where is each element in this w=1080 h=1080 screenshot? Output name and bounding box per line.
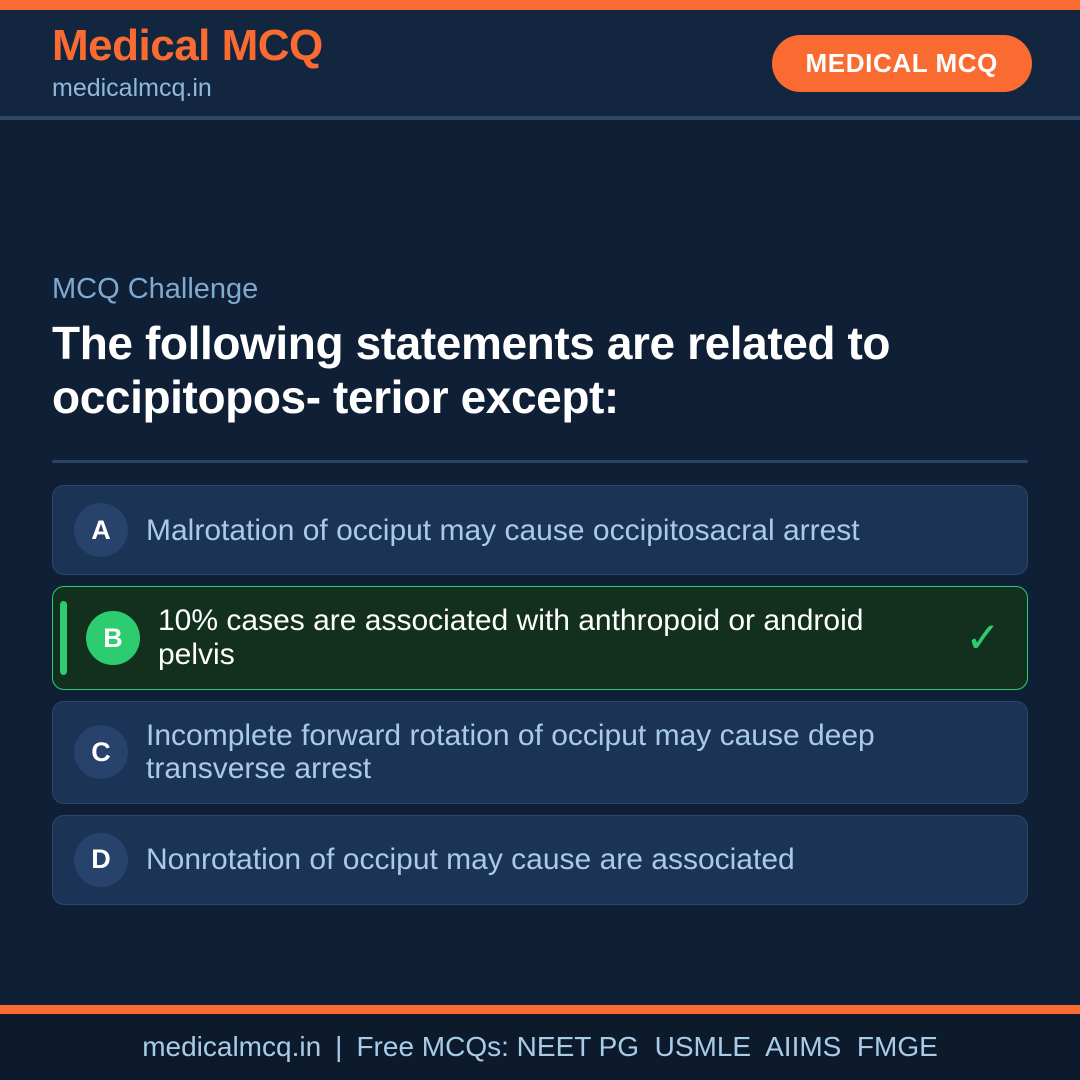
footer-accent-rule	[0, 1005, 1080, 1014]
option-letter-badge: C	[74, 725, 128, 779]
mcq-card: Medical MCQ medicalmcq.in MEDICAL MCQ MC…	[0, 0, 1080, 1080]
option-text: 10% cases are associated with anthropoid…	[158, 604, 943, 671]
footer-site-link[interactable]: medicalmcq.in	[142, 1033, 321, 1061]
option-d[interactable]: D Nonrotation of occiput may cause are a…	[52, 815, 1028, 905]
option-text: Nonrotation of occiput may cause are ass…	[146, 843, 943, 877]
correct-accent-bar	[60, 601, 67, 674]
check-icon: ✓	[961, 617, 1005, 659]
brand-title: Medical MCQ	[52, 23, 323, 69]
option-c[interactable]: C Incomplete forward rotation of occiput…	[52, 701, 1028, 804]
option-letter-badge: A	[74, 503, 128, 557]
brand-subtitle: medicalmcq.in	[52, 73, 323, 103]
question-title: The following statements are related to …	[52, 317, 932, 425]
option-text: Incomplete forward rotation of occiput m…	[146, 719, 943, 786]
footer-exams-label: Free MCQs: NEET PG USMLE AIIMS FMGE	[356, 1033, 937, 1061]
page-header: Medical MCQ medicalmcq.in MEDICAL MCQ	[0, 10, 1080, 120]
footer-separator: |	[321, 1031, 356, 1063]
main-content: MCQ Challenge The following statements a…	[0, 120, 1080, 1005]
top-accent-rule	[0, 0, 1080, 10]
header-badge[interactable]: MEDICAL MCQ	[772, 35, 1032, 92]
option-text: Malrotation of occiput may cause occipit…	[146, 514, 943, 548]
question-eyebrow: MCQ Challenge	[52, 272, 1028, 307]
page-footer: medicalmcq.in | Free MCQs: NEET PG USMLE…	[0, 1014, 1080, 1080]
brand-block: Medical MCQ medicalmcq.in	[52, 23, 323, 102]
option-letter-badge: B	[86, 611, 140, 665]
option-letter-badge: D	[74, 833, 128, 887]
options-list: A Malrotation of occiput may cause occip…	[52, 485, 1028, 904]
option-a[interactable]: A Malrotation of occiput may cause occip…	[52, 485, 1028, 575]
section-divider	[52, 460, 1028, 463]
option-b[interactable]: B 10% cases are associated with anthropo…	[52, 586, 1028, 689]
question-block: MCQ Challenge The following statements a…	[52, 272, 1028, 424]
